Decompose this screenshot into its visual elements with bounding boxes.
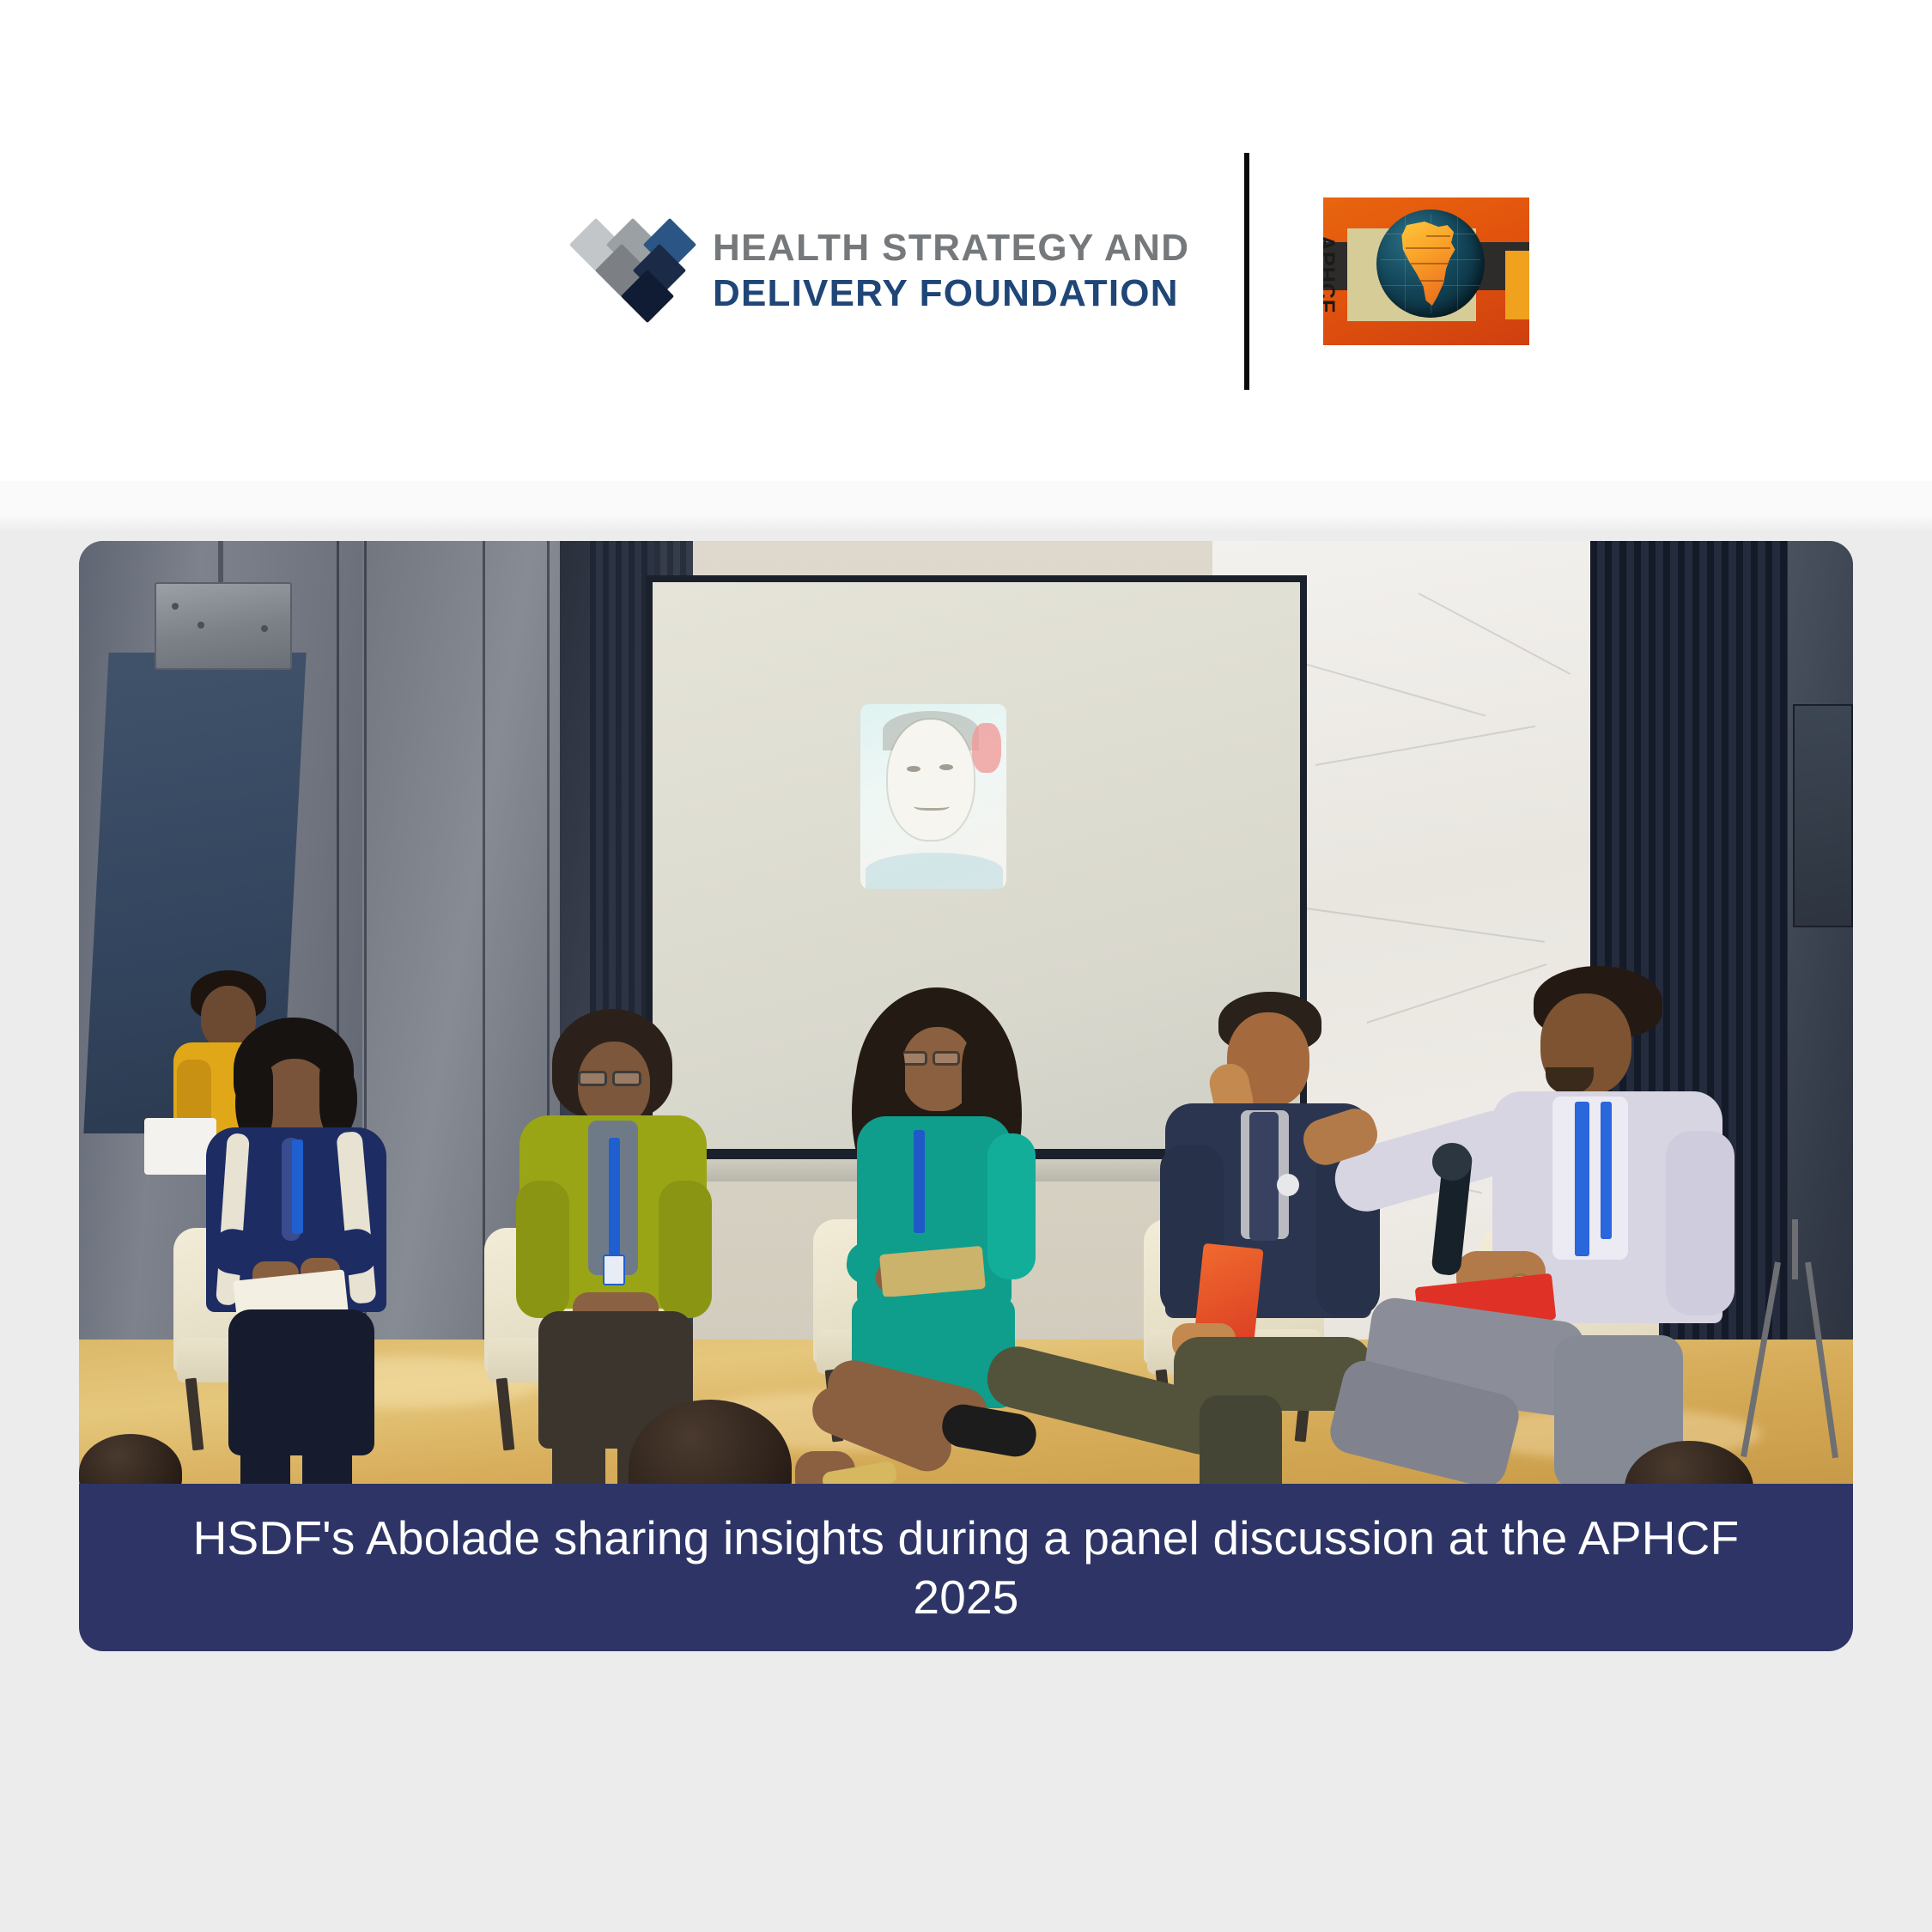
aphcf-logo-plate: APHCF	[1323, 197, 1529, 345]
aphcf-globe-icon	[1376, 210, 1485, 318]
aphcf-wordmark: APHCF	[1323, 235, 1339, 328]
page-header: HEALTH STRATEGY AND DELIVERY FOUNDATION …	[0, 0, 1932, 515]
photo-caption-text: HSDF's Abolade sharing insights during a…	[79, 1509, 1853, 1625]
projected-portrait-slide	[860, 704, 1006, 889]
panel-discussion-photograph	[79, 541, 1853, 1484]
notebook	[879, 1246, 986, 1297]
speaker-mount-pole	[218, 541, 223, 584]
panelist-woman-taking-notes	[199, 1018, 457, 1484]
hsdf-wordmark-line-2: DELIVERY FOUNDATION	[713, 275, 1189, 313]
ceiling-speaker	[155, 582, 292, 670]
hsdf-logo[interactable]: HEALTH STRATEGY AND DELIVERY FOUNDATION	[575, 224, 1244, 319]
photo-card: HSDF's Abolade sharing insights during a…	[79, 541, 1853, 1651]
tripod-column	[1792, 1219, 1798, 1279]
aphcf-yellow-tab	[1505, 251, 1529, 319]
hsdf-wordmark-line-1: HEALTH STRATEGY AND	[713, 229, 1189, 268]
photo-caption-bar: HSDF's Abolade sharing insights during a…	[79, 1484, 1853, 1651]
lapel-pin	[1277, 1174, 1299, 1196]
aphcf-logo[interactable]: APHCF	[1316, 185, 1533, 357]
wall-monitor	[1793, 704, 1853, 927]
hsdf-diamond-mark-icon	[575, 224, 690, 319]
vertical-divider	[1244, 153, 1249, 390]
eyeglasses	[578, 1071, 607, 1086]
hsdf-wordmark: HEALTH STRATEGY AND DELIVERY FOUNDATION	[713, 229, 1189, 313]
logo-row: HEALTH STRATEGY AND DELIVERY FOUNDATION …	[575, 153, 1533, 390]
